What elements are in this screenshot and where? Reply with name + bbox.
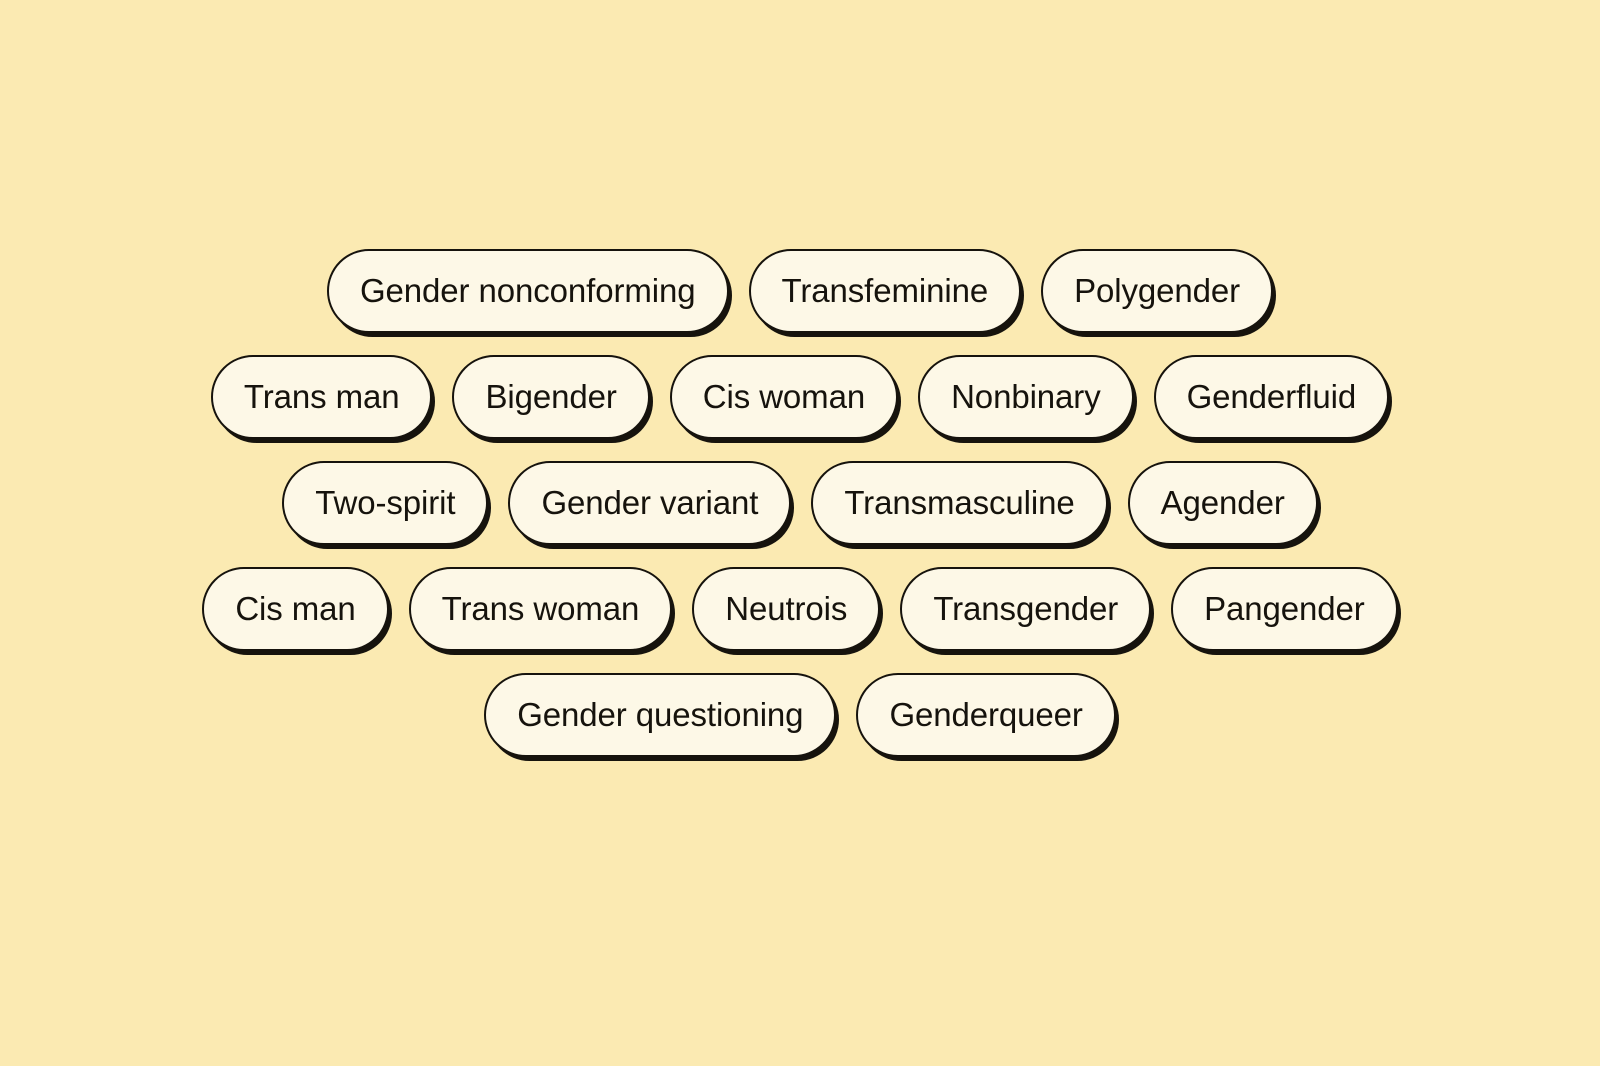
tag-pill-label: Cis woman [703,380,865,413]
tag-pill-gender-variant[interactable]: Gender variant [508,461,791,545]
tag-row-3: Two-spirit Gender variant Transmasculine… [0,461,1600,545]
tag-pill-label: Genderfluid [1187,380,1357,413]
tag-pill-nonbinary[interactable]: Nonbinary [918,355,1134,439]
tag-row-1: Gender nonconforming Transfeminine Polyg… [0,249,1600,333]
tag-pill-polygender[interactable]: Polygender [1041,249,1273,333]
tag-pill-label: Polygender [1074,274,1240,307]
tag-pill-cis-man[interactable]: Cis man [202,567,388,651]
tag-row-2: Trans man Bigender Cis woman Nonbinary G… [0,355,1600,439]
tag-pill-label: Nonbinary [951,380,1101,413]
tag-pill-label: Transmasculine [844,486,1074,519]
tag-pill-transgender[interactable]: Transgender [900,567,1151,651]
tag-pill-pangender[interactable]: Pangender [1171,567,1398,651]
tag-pill-agender[interactable]: Agender [1128,461,1318,545]
tag-pill-label: Bigender [485,380,616,413]
tag-pill-label: Gender questioning [517,698,803,731]
tag-row-4: Cis man Trans woman Neutrois Transgender… [0,567,1600,651]
tag-pill-label: Transgender [933,592,1118,625]
tag-row-5: Gender questioning Genderqueer [0,673,1600,757]
tag-pill-label: Pangender [1204,592,1365,625]
tag-pill-transmasculine[interactable]: Transmasculine [811,461,1107,545]
tag-pill-trans-man[interactable]: Trans man [211,355,433,439]
tag-pill-label: Genderqueer [889,698,1082,731]
tag-pill-label: Cis man [235,592,355,625]
tag-pill-neutrois[interactable]: Neutrois [692,567,880,651]
tag-pill-label: Trans woman [442,592,640,625]
tag-pill-genderfluid[interactable]: Genderfluid [1154,355,1390,439]
tag-pill-label: Two-spirit [315,486,455,519]
tag-pill-label: Neutrois [725,592,847,625]
tag-pill-transfeminine[interactable]: Transfeminine [749,249,1022,333]
tag-pill-genderqueer[interactable]: Genderqueer [856,673,1115,757]
tag-board: Gender nonconforming Transfeminine Polyg… [0,0,1600,1066]
tag-pill-gender-questioning[interactable]: Gender questioning [484,673,836,757]
tag-pill-label: Trans man [244,380,400,413]
tag-pill-cis-woman[interactable]: Cis woman [670,355,898,439]
tag-pill-label: Gender nonconforming [360,274,696,307]
tag-pill-label: Agender [1161,486,1285,519]
tag-pill-label: Gender variant [541,486,758,519]
tag-pill-gender-nonconforming[interactable]: Gender nonconforming [327,249,729,333]
tag-pill-trans-woman[interactable]: Trans woman [409,567,673,651]
tag-pill-label: Transfeminine [782,274,989,307]
tag-pill-two-spirit[interactable]: Two-spirit [282,461,488,545]
tag-pill-bigender[interactable]: Bigender [452,355,649,439]
